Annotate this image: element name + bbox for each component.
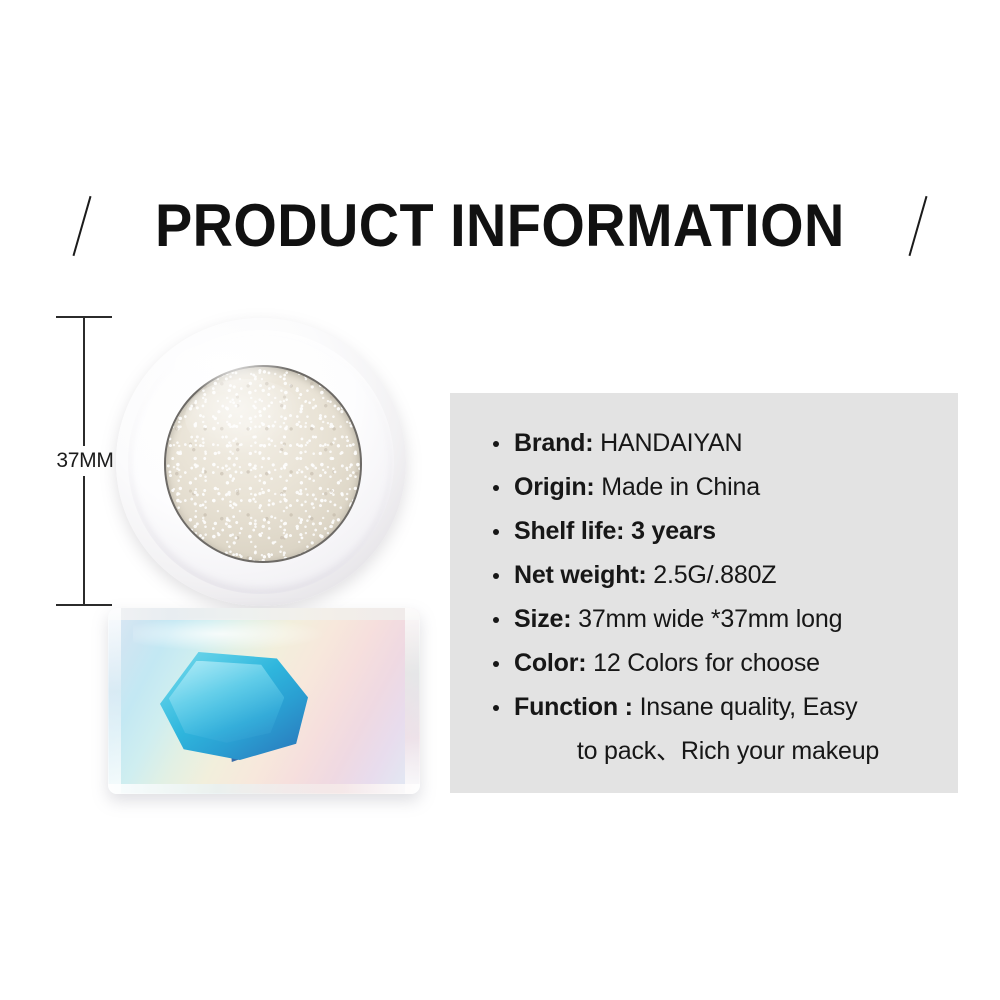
- jar-rim: [128, 330, 395, 595]
- spec-label: Size:: [514, 605, 571, 633]
- spec-value: HANDAIYAN: [600, 429, 742, 457]
- eyeshadow-compact-jar: [116, 318, 406, 606]
- spec-label: Color:: [514, 649, 586, 677]
- spec-label: Origin:: [514, 473, 595, 501]
- product-spec-list: Brand: HANDAIYAN Origin: Made in China S…: [492, 421, 942, 773]
- spec-label: Function :: [514, 693, 633, 721]
- box-sheen: [133, 617, 326, 650]
- list-item: Size: 37mm wide *37mm long: [492, 597, 942, 641]
- page-title: PRODUCT INFORMATION: [155, 196, 845, 256]
- spec-value: 37mm wide *37mm long: [578, 605, 842, 633]
- product-information-page: PRODUCT INFORMATION 37MM: [0, 0, 1000, 1000]
- box-bottom-edge: [108, 784, 420, 794]
- gem-top-facet: [169, 661, 284, 743]
- dimension-cap-bottom: [56, 604, 112, 606]
- spec-value: Made in China: [601, 473, 760, 501]
- slash-left-icon: [69, 195, 95, 257]
- holographic-package-box: [108, 608, 420, 794]
- product-info-panel: Brand: HANDAIYAN Origin: Made in China S…: [450, 393, 958, 793]
- box-left-edge: [108, 608, 121, 794]
- slash-right-icon: [905, 195, 931, 257]
- spec-label: Brand:: [514, 429, 593, 457]
- spec-label: Net weight:: [514, 561, 647, 589]
- pan-sheen: [185, 379, 306, 456]
- spec-value: 12 Colors for choose: [593, 649, 820, 677]
- spec-value: Insane quality, Easy: [640, 693, 858, 721]
- box-right-edge: [405, 608, 420, 794]
- dimension-ruler: 37MM: [56, 315, 112, 607]
- spec-value: 3 years: [631, 517, 716, 545]
- list-item: Function : Insane quality, Easy: [492, 685, 942, 729]
- gem-logo-icon: [160, 652, 308, 760]
- list-item: Origin: Made in China: [492, 465, 942, 509]
- spec-value: 2.5G/.880Z: [653, 561, 776, 589]
- spec-value-continuation: to pack、Rich your makeup: [492, 729, 942, 773]
- list-item: Brand: HANDAIYAN: [492, 421, 942, 465]
- page-title-row: PRODUCT INFORMATION: [0, 186, 1000, 266]
- list-item: Color: 12 Colors for choose: [492, 641, 942, 685]
- jar-pigment-pan: [164, 365, 363, 562]
- list-item: Shelf life: 3 years: [492, 509, 942, 553]
- spec-label: Shelf life:: [514, 517, 624, 545]
- list-item: Net weight: 2.5G/.880Z: [492, 553, 942, 597]
- dimension-label: 37MM: [44, 446, 126, 476]
